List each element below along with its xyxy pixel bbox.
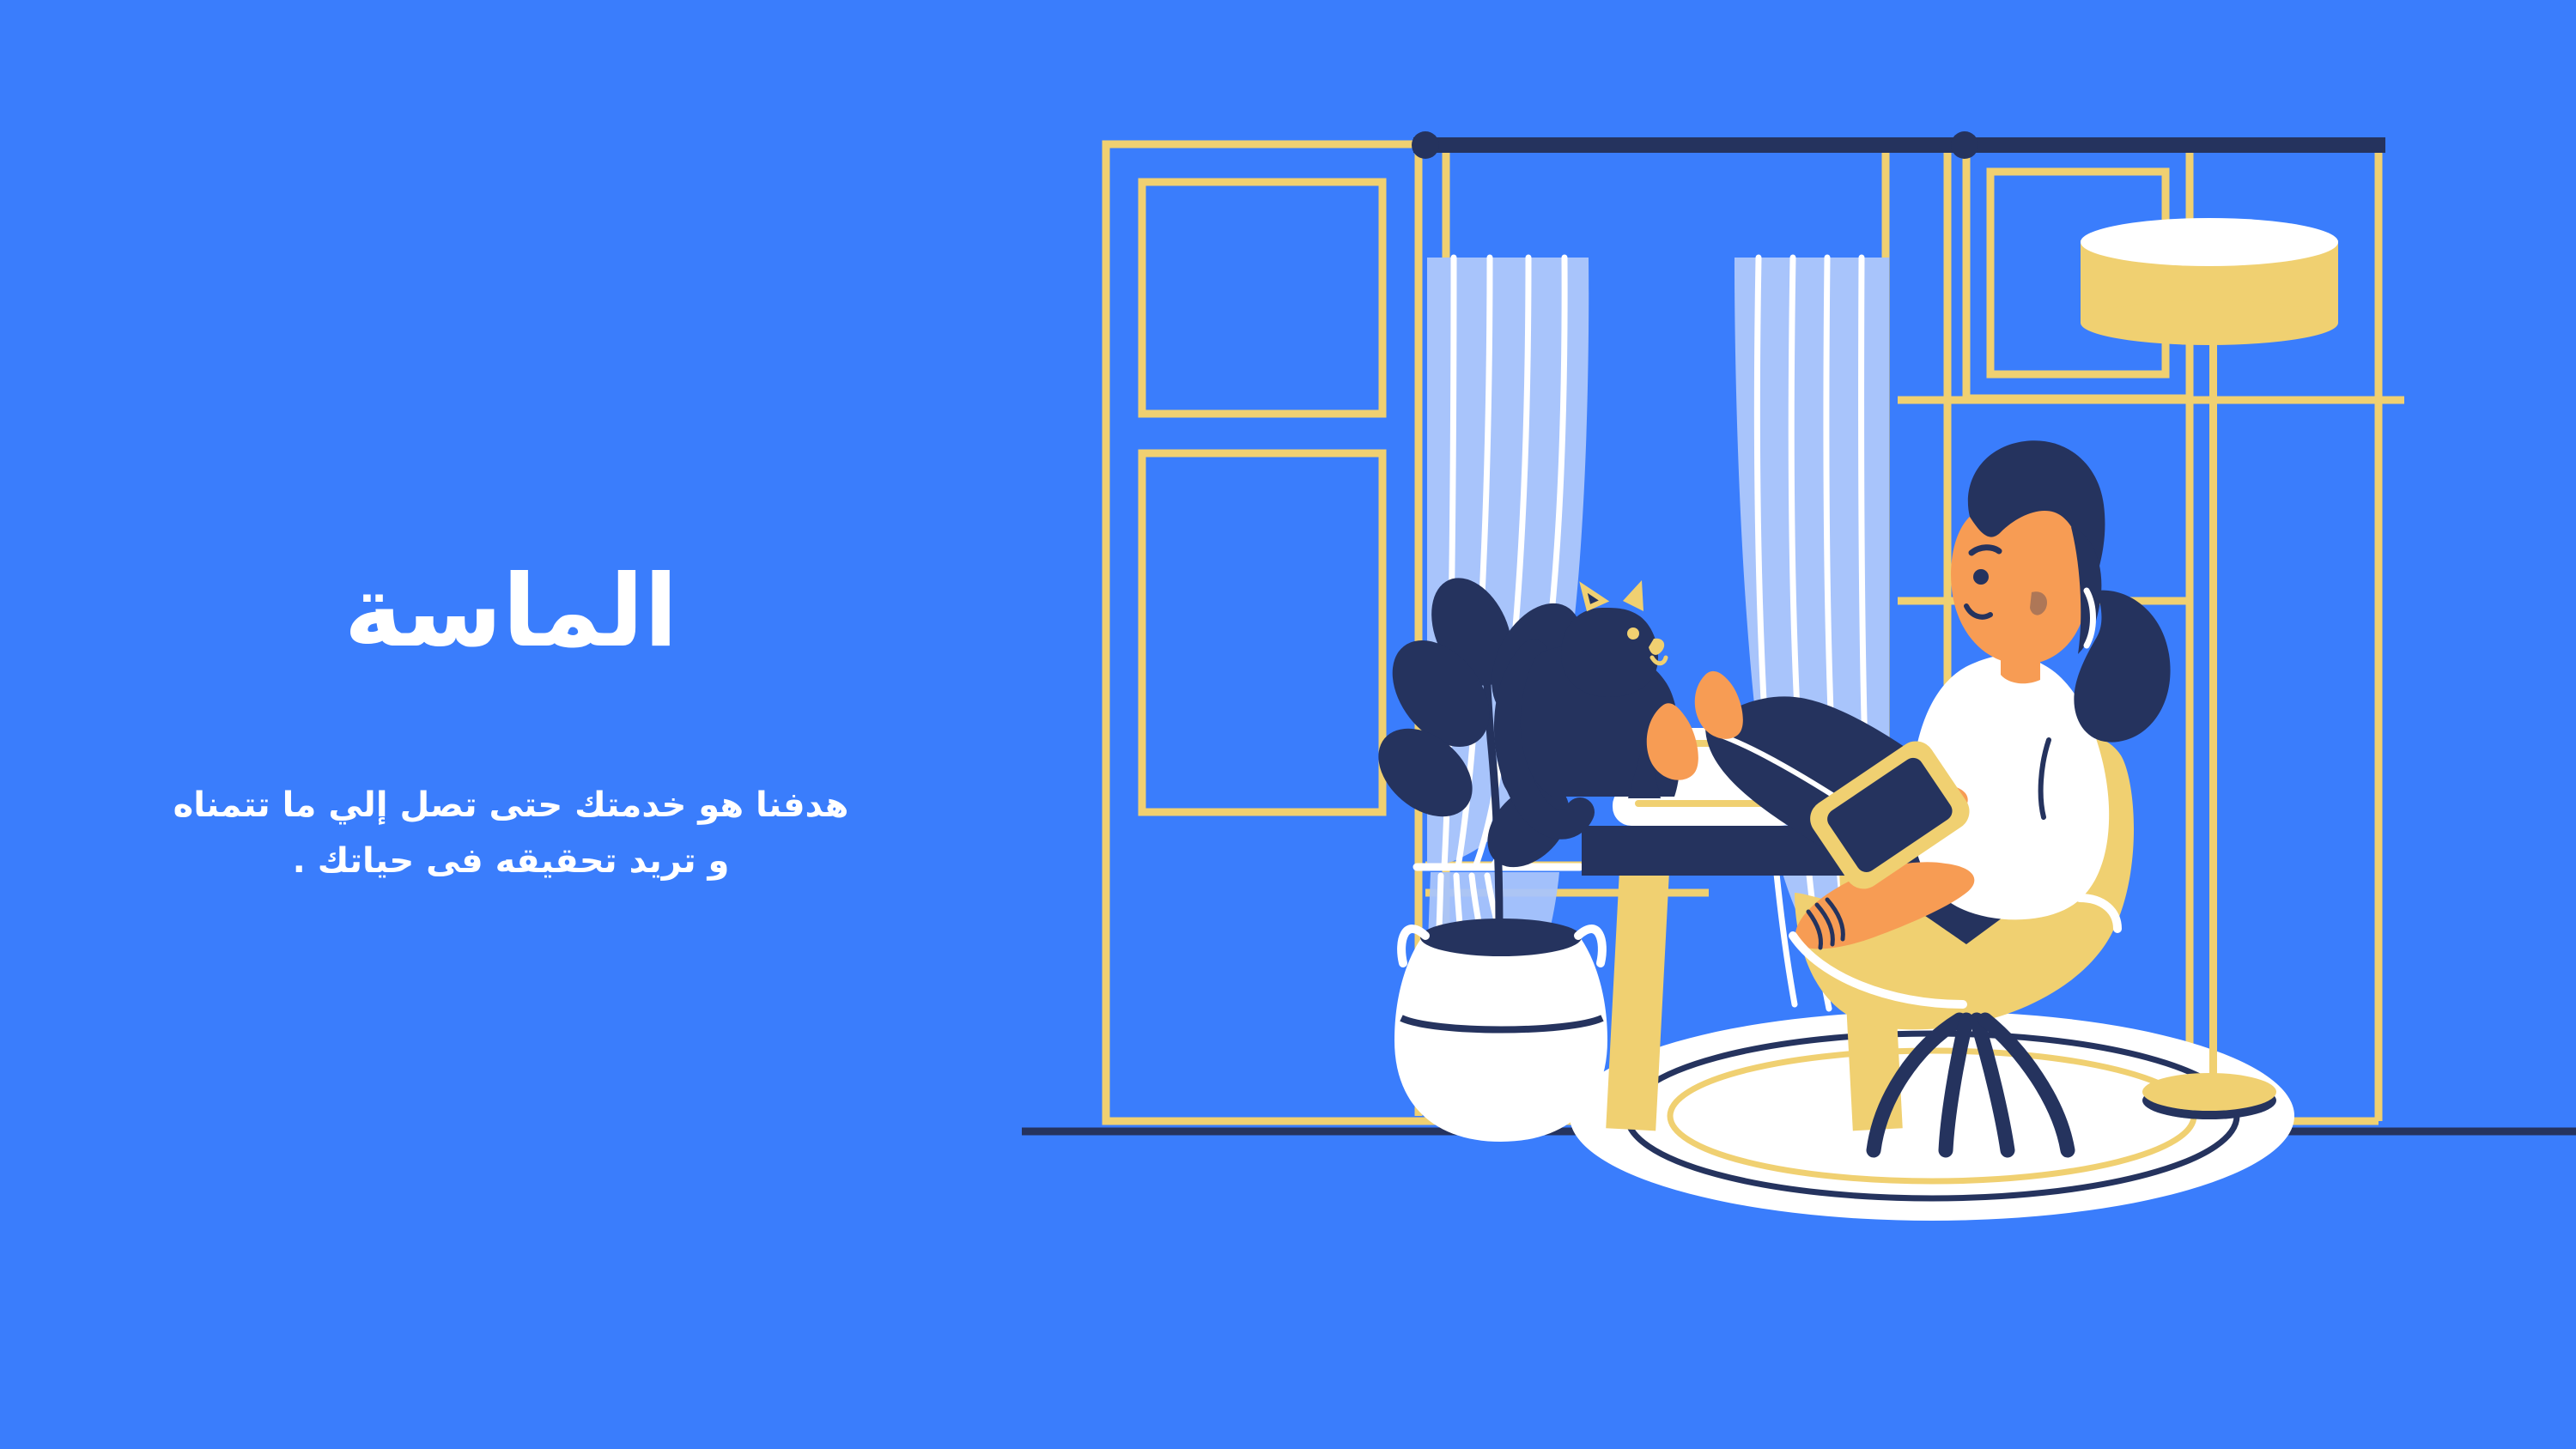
hero-text-column: الماسة هدفنا هو خدمتك حتى تصل إلي ما تتم…: [0, 0, 1022, 1449]
curtain-rod-finial-right: [1951, 131, 1978, 159]
curtain-rod-bar: [1413, 137, 2385, 153]
lamp-shade-bottom: [2081, 300, 2338, 345]
hero-slide: الماسة هدفنا هو خدمتك حتى تصل إلي ما تتم…: [0, 0, 2576, 1449]
woman-eye: [1973, 569, 1989, 585]
page-subtitle: هدفنا هو خدمتك حتى تصل إلي ما تتمناه و ت…: [172, 778, 850, 889]
pot-soil: [1420, 919, 1582, 956]
living-room-illustration-svg: [1022, 0, 2576, 1449]
pot-body: [1394, 937, 1607, 1142]
lamp-base: [2142, 1073, 2276, 1111]
curtain-rod-finial-left: [1412, 131, 1439, 159]
page-title: الماسة: [343, 560, 677, 664]
lamp-pole: [2209, 283, 2217, 1094]
lamp-shade-top: [2081, 218, 2338, 266]
cat-eye: [1627, 627, 1639, 640]
cat-head: [1561, 608, 1658, 697]
hero-illustration: [1022, 0, 2576, 1449]
